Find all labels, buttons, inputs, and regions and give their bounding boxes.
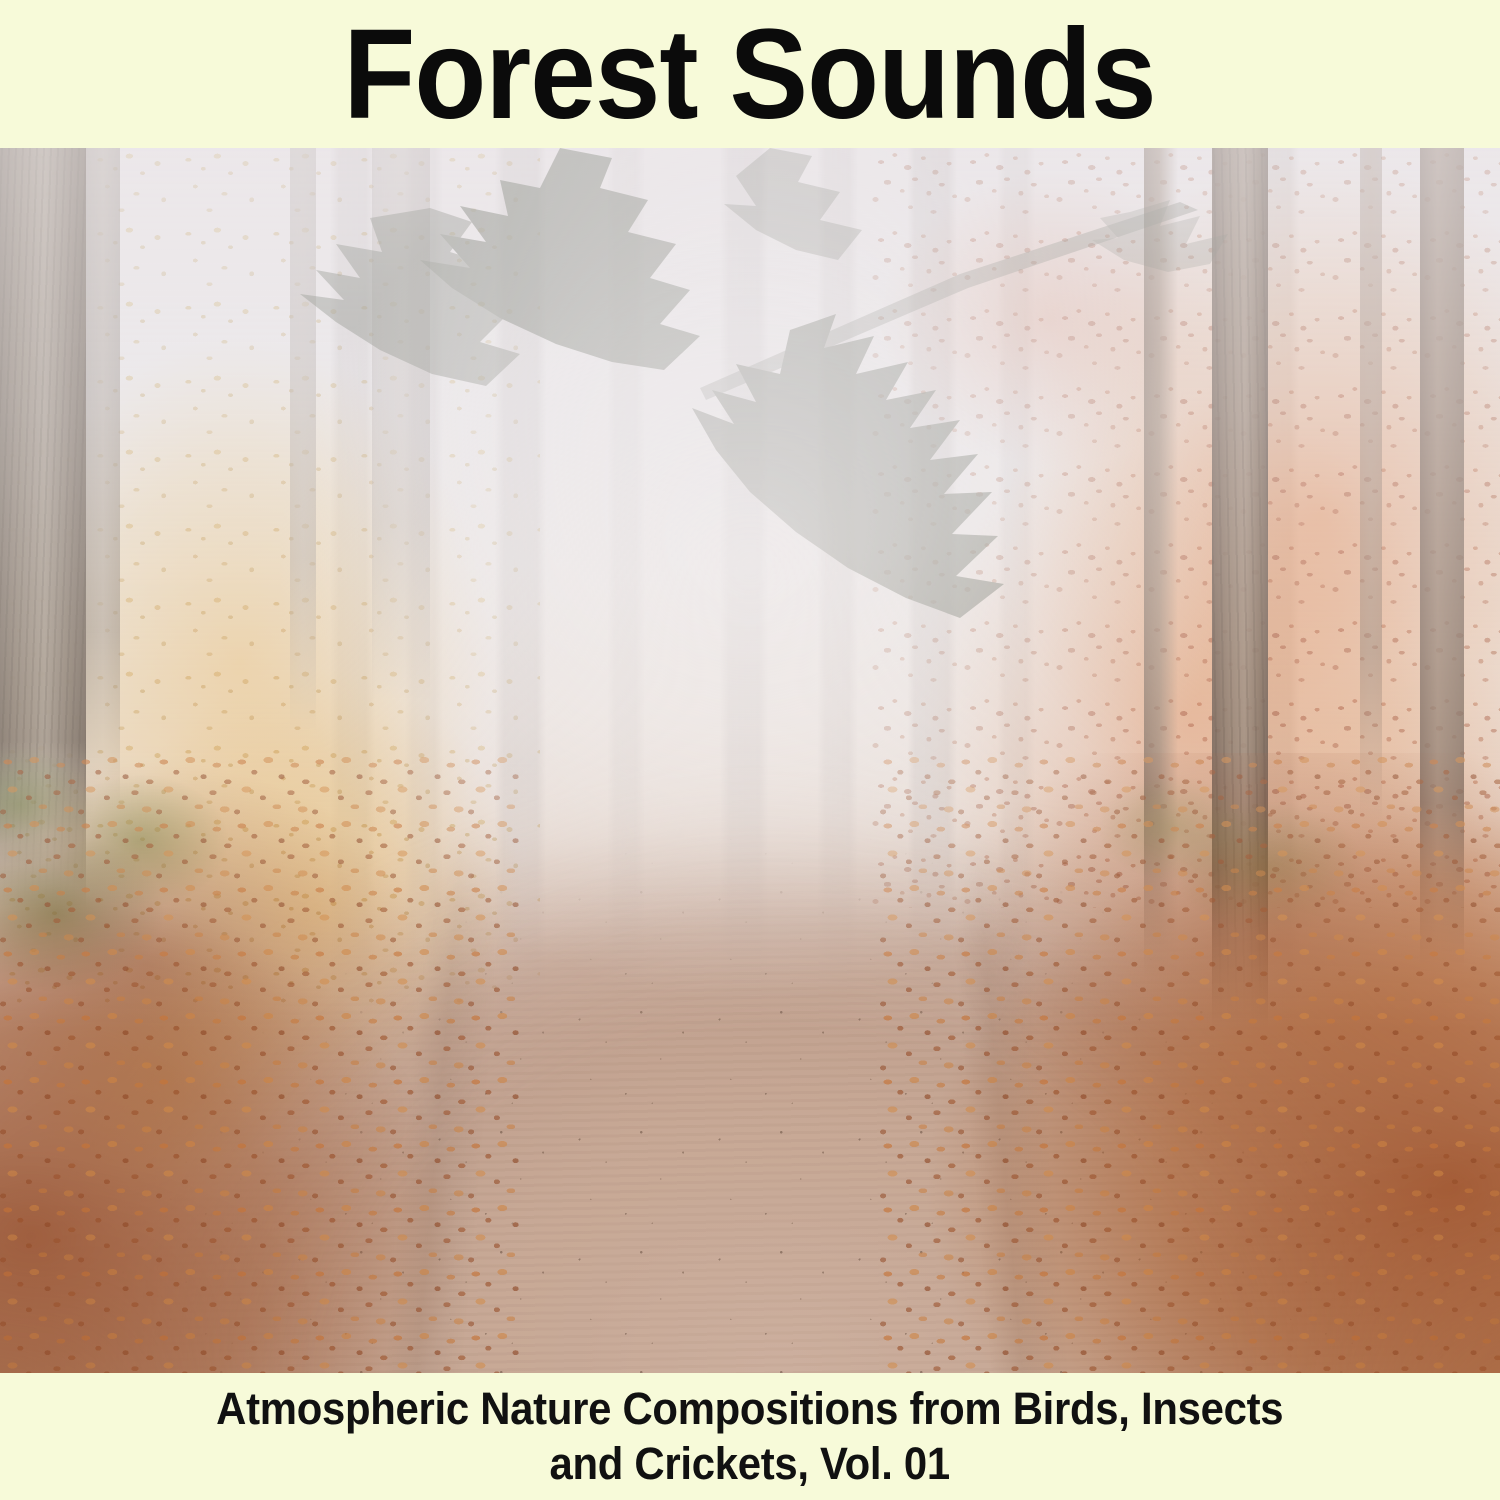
subtitle-band: Atmospheric Nature Compositions from Bir… bbox=[0, 1373, 1500, 1500]
leaf-litter-left bbox=[0, 753, 520, 1373]
album-title: Forest Sounds bbox=[344, 14, 1156, 136]
leaf-litter-specks-right bbox=[880, 753, 1500, 1373]
cover-artwork-photo bbox=[0, 148, 1500, 1373]
album-subtitle: Atmospheric Nature Compositions from Bir… bbox=[194, 1382, 1306, 1492]
title-band: Forest Sounds bbox=[0, 0, 1500, 148]
leaf-litter-right bbox=[880, 753, 1500, 1373]
leaf-litter-specks-left bbox=[0, 753, 520, 1373]
album-cover: Forest Sounds Atmospheric Nature Composi… bbox=[0, 0, 1500, 1500]
